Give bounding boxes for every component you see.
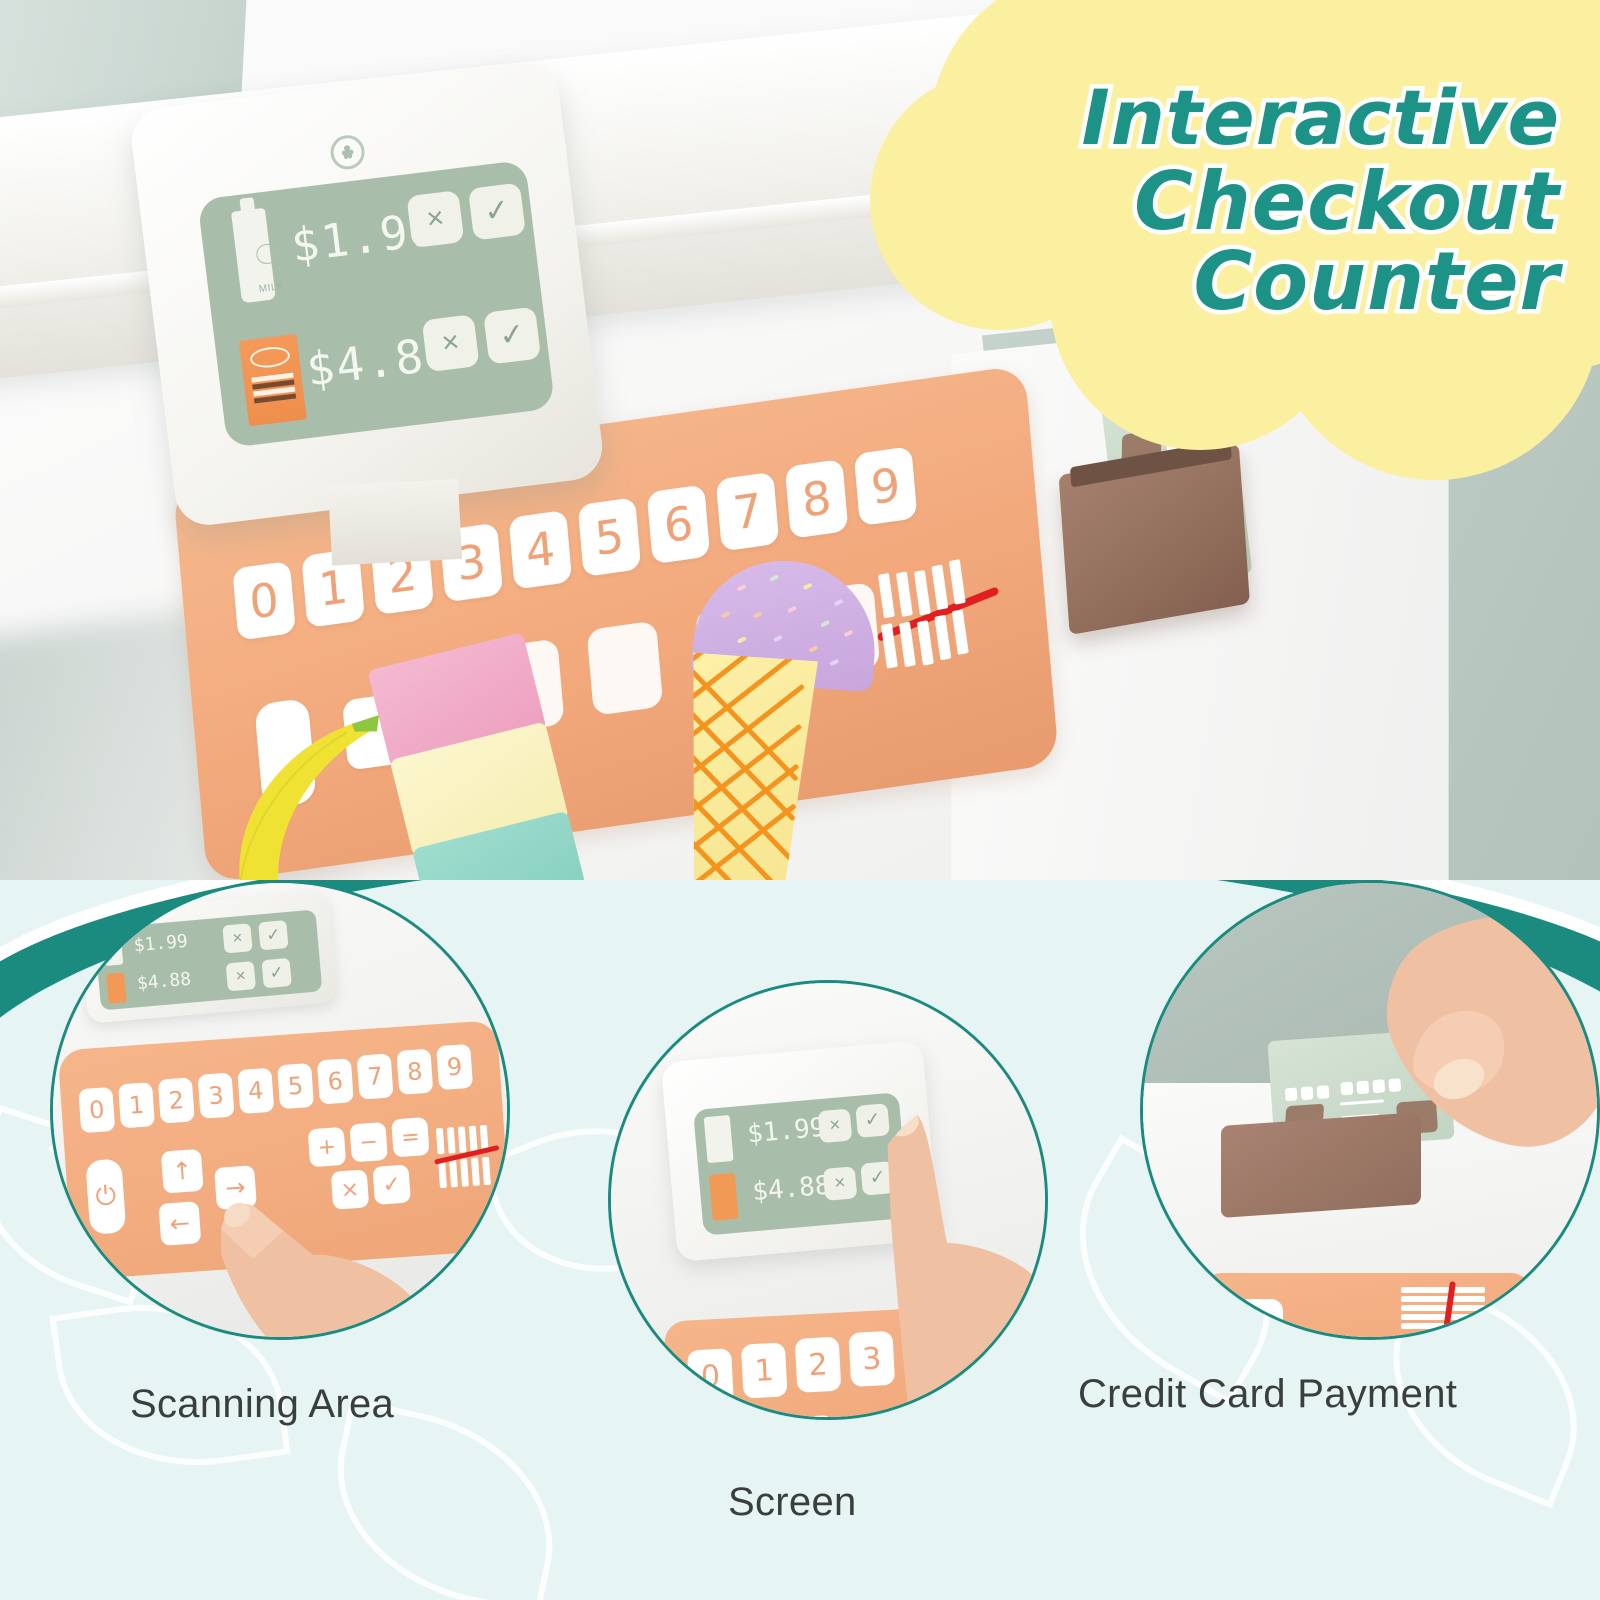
barcode-bar [899,622,916,668]
product-infographic: 0123456789 [0,0,1600,1600]
number-key-8[interactable]: 8 [396,1049,433,1095]
headline-line-1: Interactive [860,80,1560,156]
number-key-0[interactable]: 0 [232,561,296,641]
accept-button-milk[interactable]: ✓ [468,183,526,241]
reject-button-wafer[interactable]: × [422,314,480,372]
number-key-2[interactable]: 2 [795,1337,842,1393]
callout1-display: $1.99 × ✓ $4.88 × ✓ [94,909,322,1010]
number-key-7[interactable]: 7 [357,1053,394,1099]
sprinkle [721,611,731,619]
card-dot [1317,1085,1330,1099]
arrow-up-key[interactable]: ↑ [789,1415,835,1420]
callout2-accept-button[interactable]: ✓ [855,1103,890,1138]
number-key-6[interactable]: 6 [317,1058,354,1104]
barcode-bar [1401,1314,1485,1320]
barcode-scanner[interactable] [872,553,1003,671]
barcode-bar [952,609,969,655]
number-key-2[interactable]: 2 [158,1077,195,1123]
number-key-1[interactable]: 1 [741,1342,788,1398]
barcode-bar [1401,1296,1485,1302]
sprinkle [820,620,830,628]
callout1-price: $1.99 [133,931,189,957]
sprinkle [844,630,854,638]
callout-scanning-area[interactable]: $1.99 × ✓ $4.88 × ✓ 0123456789⏻↑→←+−=×✓ [50,880,510,1340]
barcode-bar [896,571,913,617]
milk-bottle-icon: MILK [217,204,290,307]
callout1-accept-button[interactable]: ✓ [258,920,288,950]
barcode-bar [931,565,948,611]
barcode-bar [1401,1305,1485,1311]
barcode-bar [458,1126,467,1152]
number-key-0[interactable]: 0 [78,1087,115,1133]
callout2-item-icon [704,1115,734,1163]
callout-caption-scanning-area: Scanning Area [130,1382,394,1427]
callout2-reject-button[interactable]: × [823,1166,858,1201]
sprinkle [803,583,813,591]
barcode-bar [934,615,951,661]
number-key-7[interactable]: 7 [716,472,780,552]
feature-callout-section: $1.99 × ✓ $4.88 × ✓ 0123456789⏻↑→←+−=×✓ … [0,880,1600,1600]
callout1-item-icon [103,935,124,966]
barcode-bar [1401,1287,1485,1293]
callout-caption-screen: Screen [728,1480,857,1525]
pointing-hand [163,1103,493,1340]
sprinkle [830,659,840,667]
checkout-screen-terminal[interactable]: MILK $1.99 × ✓ [128,59,606,528]
callout1-terminal: $1.99 × ✓ $4.88 × ✓ [79,890,338,1023]
callout1-price: $4.88 [136,969,192,995]
reject-button-milk[interactable]: × [406,190,464,248]
number-key-9[interactable]: 9 [436,1044,473,1090]
barcode-bar [482,1157,491,1185]
row-buttons-wafer: × ✓ [422,307,541,373]
callout-credit-card-payment[interactable]: 0 [1140,880,1600,1340]
barcode-bar [469,1126,478,1152]
number-key-4[interactable]: 4 [508,510,572,590]
sprinkle [769,574,779,582]
callout2-reject-button[interactable]: × [818,1109,853,1144]
terminal-display: MILK $1.99 × ✓ [197,160,555,448]
barcode-bar [914,570,931,616]
accept-button-wafer[interactable]: ✓ [483,307,541,365]
callout1-reject-button[interactable]: × [226,961,256,991]
sprinkle [834,599,844,607]
number-key-0[interactable]: 0 [1237,1299,1283,1340]
power-key[interactable]: ⏻ [699,1414,742,1420]
sprinkle [736,584,746,592]
number-key-1[interactable]: 1 [118,1082,155,1128]
callout1-item-icon [106,972,127,1003]
sprinkle [737,636,747,644]
number-key-8[interactable]: 8 [785,459,849,539]
wafer-biscuit-icon [232,328,305,431]
sprinkle [753,611,763,619]
callout2-price: $4.88 [751,1171,832,1208]
headline-line-2: Checkout Counter [860,162,1560,322]
headline: Interactive Checkout Counter [860,80,1560,322]
number-key-5[interactable]: 5 [578,497,642,577]
sprinkle [808,645,818,653]
callout-screen[interactable]: $1.99 × ✓ $4.88 × ✓ 01234↑⏻ [608,980,1048,1420]
leaf-decoration [314,1398,575,1600]
milk-label: MILK [254,281,289,296]
power-key[interactable]: ⏻ [85,1158,126,1234]
barcode-bar [917,620,934,666]
callout2-price: $1.99 [746,1113,827,1150]
callout3-keypad-mat: 0 [1201,1273,1531,1340]
barcode-scanner[interactable] [1401,1287,1493,1340]
callout2-item-icon [709,1173,739,1221]
callout-caption-credit-card-payment: Credit Card Payment [1078,1372,1457,1417]
row-buttons-milk: × ✓ [406,183,525,249]
card-dot [1301,1086,1314,1100]
number-key-5[interactable]: 5 [277,1063,314,1109]
barcode-bar [949,559,966,605]
callout1-reject-button[interactable]: × [222,923,252,953]
number-key-4[interactable]: 4 [237,1068,274,1114]
terminal-stand [328,479,462,566]
sprinkle [787,606,797,614]
card-dot [1285,1087,1298,1101]
keypad-ghost-key[interactable] [586,620,663,716]
number-key-0[interactable]: 0 [687,1348,734,1404]
sprinkle [773,635,783,643]
callout1-accept-button[interactable]: ✓ [261,958,291,988]
number-key-3[interactable]: 3 [198,1073,235,1119]
